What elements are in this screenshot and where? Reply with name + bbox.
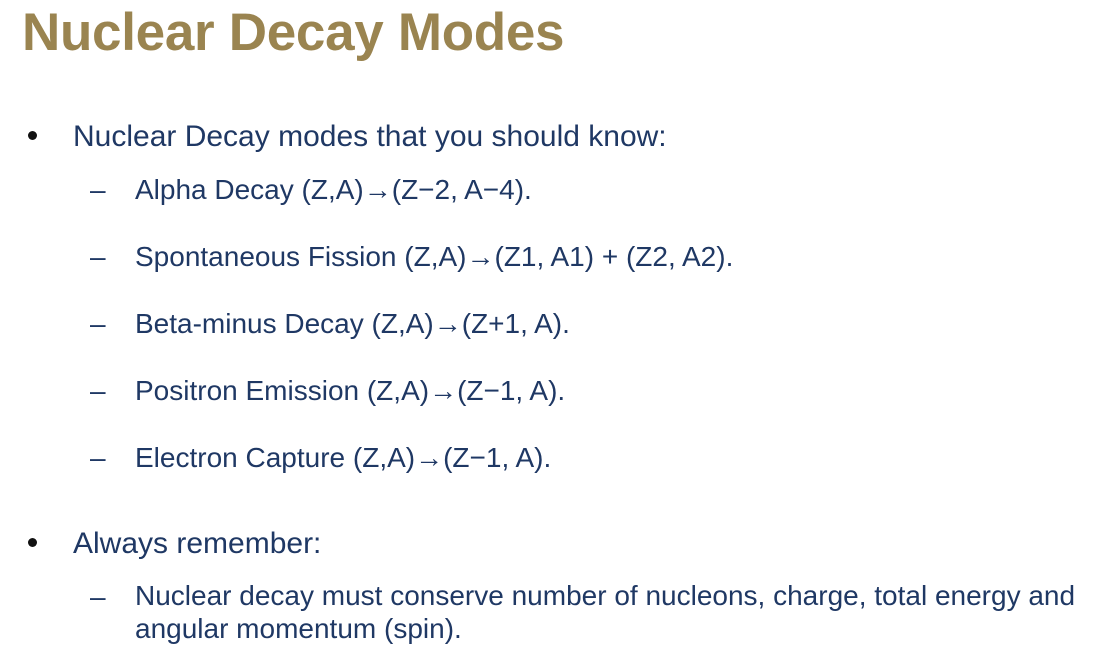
dash-icon: – (90, 440, 118, 475)
dash-icon: – (90, 239, 118, 274)
sub-bullet-label: Beta-minus Decay (Z,A)→(Z+1, A). (135, 306, 1118, 341)
page-title: Nuclear Decay Modes (22, 2, 1082, 64)
bullet-label: Nuclear Decay modes that you should know… (73, 118, 1118, 156)
bullet-dot-icon (28, 118, 48, 156)
bullet-item-level1: Always remember: (0, 525, 1118, 563)
bullet-label: Always remember: (73, 525, 1118, 563)
sub-bullet-item-conservation-rule: – Nuclear decay must conserve number of … (0, 579, 1118, 645)
slide-canvas: Nuclear Decay Modes Nuclear Decay modes … (0, 0, 1118, 663)
sub-bullet-label: Nuclear decay must conserve number of nu… (135, 579, 1100, 645)
dash-icon: – (90, 373, 118, 408)
sub-bullet-label: Spontaneous Fission (Z,A)→(Z1, A1) + (Z2… (135, 239, 1118, 274)
dash-icon: – (90, 172, 118, 207)
bullet-item-level1: Nuclear Decay modes that you should know… (0, 118, 1118, 156)
dash-icon: – (90, 579, 118, 614)
bullet-dot-icon (28, 525, 48, 563)
dash-icon: – (90, 306, 118, 341)
sub-bullet-item-positron-emission: – Positron Emission (Z,A)→(Z−1, A). (0, 373, 1118, 408)
sub-bullet-label: Alpha Decay (Z,A)→(Z−2, A−4). (135, 172, 1118, 207)
section-spacer (0, 507, 1118, 525)
slide-body: Nuclear Decay modes that you should know… (0, 118, 1118, 645)
sub-bullet-item-electron-capture: – Electron Capture (Z,A)→(Z−1, A). (0, 440, 1118, 475)
sub-bullet-item-spontaneous-fission: – Spontaneous Fission (Z,A)→(Z1, A1) + (… (0, 239, 1118, 274)
sub-bullet-label: Positron Emission (Z,A)→(Z−1, A). (135, 373, 1118, 408)
sub-bullet-label: Electron Capture (Z,A)→(Z−1, A). (135, 440, 1118, 475)
sub-bullet-item-beta-minus-decay: – Beta-minus Decay (Z,A)→(Z+1, A). (0, 306, 1118, 341)
sub-bullet-item-alpha-decay: – Alpha Decay (Z,A)→(Z−2, A−4). (0, 172, 1118, 207)
